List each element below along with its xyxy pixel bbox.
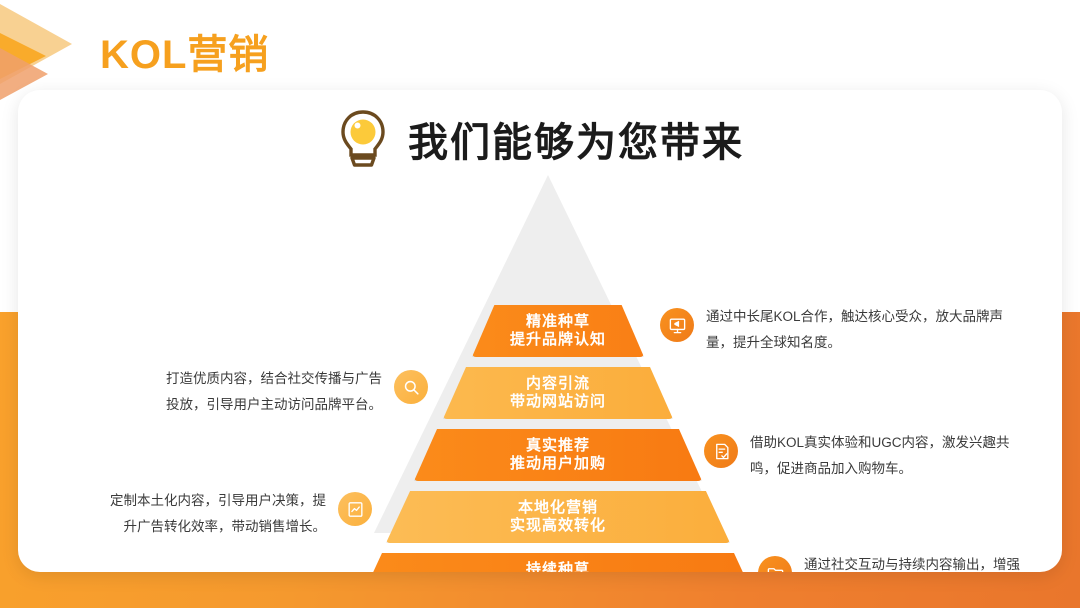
pyramid-level-5-line1: 持续种草	[526, 561, 590, 572]
pyramid-level-4-line2: 实现高效转化	[510, 517, 606, 535]
callout-1-text: 通过中长尾KOL合作，触达核心受众，放大品牌声 量，提升全球知名度。	[706, 304, 1003, 357]
pyramid-level-3-line2: 推动用户加购	[510, 455, 606, 473]
folder-add-icon	[758, 556, 792, 572]
callout-4-text: 定制本土化内容，引导用户决策，提 升广告转化效率，带动销售增长。	[110, 488, 326, 541]
pyramid-level-2-line1: 内容引流	[526, 375, 590, 393]
pyramid-level-1-line1: 精准种草	[526, 313, 590, 331]
pyramid-level-2-line2: 带动网站访问	[510, 393, 606, 411]
pyramid-level-2[interactable]: 内容引流 带动网站访问	[443, 367, 673, 419]
callout-2-text: 打造优质内容，结合社交传播与广告 投放，引导用户主动访问品牌平台。	[166, 366, 382, 419]
lightbulb-icon	[336, 108, 390, 170]
search-icon	[394, 370, 428, 404]
pyramid-level-3-line1: 真实推荐	[526, 437, 590, 455]
card-heading-text: 我们能够为您带来	[408, 110, 744, 168]
pyramid-level-1[interactable]: 精准种草 提升品牌认知	[472, 305, 644, 357]
pyramid-level-3[interactable]: 真实推荐 推动用户加购	[414, 429, 702, 481]
pyramid-level-5[interactable]: 持续种草 提升复购黏性	[358, 553, 758, 572]
card-heading: 我们能够为您带来	[18, 108, 1062, 170]
checklist-icon	[704, 434, 738, 468]
pyramid-level-1-line2: 提升品牌认知	[510, 331, 606, 349]
pyramid-level-4[interactable]: 本地化营销 实现高效转化	[386, 491, 730, 543]
callout-3-text: 借助KOL真实体验和UGC内容，激发兴趣共 鸣，促进商品加入购物车。	[750, 430, 1010, 483]
callout-5: 通过社交互动与持续内容输出，增强 用户粘性，促进长期复购行为。	[758, 552, 1020, 572]
callout-1: 通过中长尾KOL合作，触达核心受众，放大品牌声 量，提升全球知名度。	[660, 304, 1003, 357]
callout-2: 打造优质内容，结合社交传播与广告 投放，引导用户主动访问品牌平台。	[166, 366, 428, 419]
slide-canvas: KOL营销 我们能够为您带来 精准种草 提升品牌认知	[0, 0, 1080, 608]
pyramid-level-4-line1: 本地化营销	[518, 499, 598, 517]
callout-4: 定制本土化内容，引导用户决策，提 升广告转化效率，带动销售增长。	[110, 488, 372, 541]
page-title: KOL营销	[100, 22, 269, 80]
megaphone-board-icon	[660, 308, 694, 342]
callout-5-text: 通过社交互动与持续内容输出，增强 用户粘性，促进长期复购行为。	[804, 552, 1020, 572]
chart-report-icon	[338, 492, 372, 526]
content-card: 我们能够为您带来 精准种草 提升品牌认知 通过中长尾KOL合作，触达核心受众，放…	[18, 90, 1062, 572]
callout-3: 借助KOL真实体验和UGC内容，激发兴趣共 鸣，促进商品加入购物车。	[704, 430, 1010, 483]
